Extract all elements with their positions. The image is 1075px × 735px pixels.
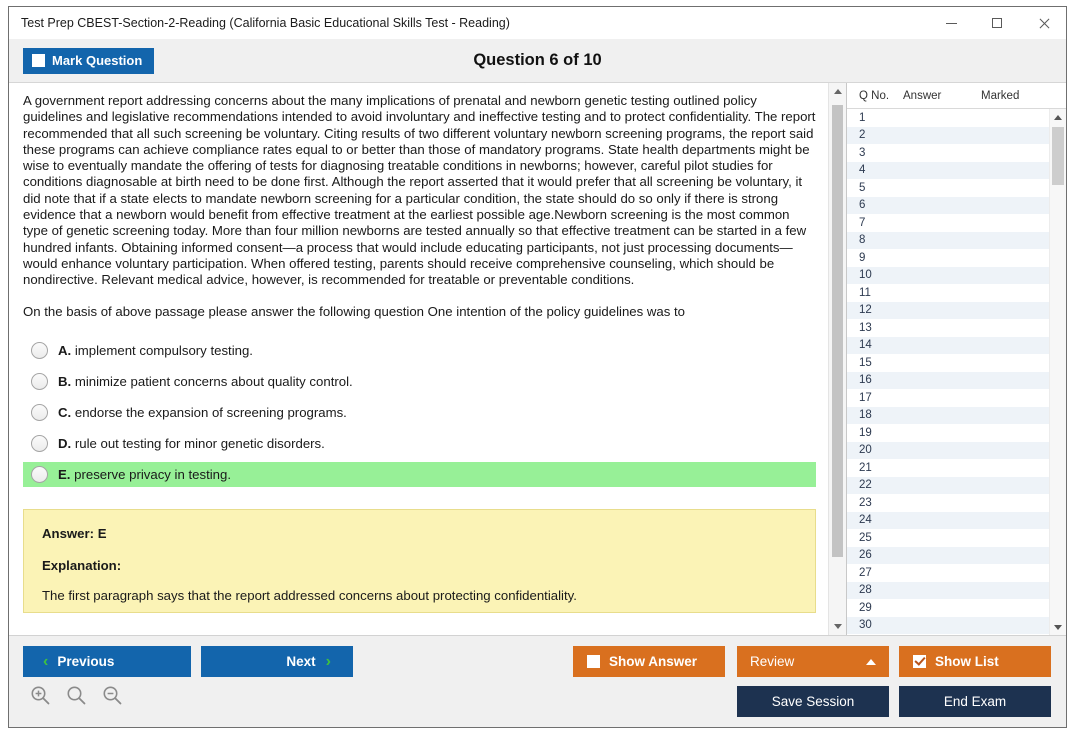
question-list-row[interactable]: 2 — [847, 127, 1049, 145]
option-letter-a: A. — [58, 343, 71, 358]
question-number-cell: 20 — [847, 444, 903, 456]
question-number-cell: 11 — [847, 287, 903, 299]
option-row-b[interactable]: B. minimize patient concerns about quali… — [23, 369, 816, 394]
option-letter-d: D. — [58, 436, 71, 451]
answer-options: A. implement compulsory testing. B. mini… — [23, 338, 816, 493]
option-text-c: C. endorse the expansion of screening pr… — [58, 405, 347, 420]
question-list-scrollbar-thumb[interactable] — [1052, 127, 1064, 185]
end-exam-label: End Exam — [944, 694, 1006, 709]
chevron-down-icon — [834, 624, 842, 629]
question-list-row[interactable]: 15 — [847, 354, 1049, 372]
question-list-row[interactable]: 17 — [847, 389, 1049, 407]
question-list-row[interactable]: 28 — [847, 582, 1049, 600]
question-number-cell: 12 — [847, 304, 903, 316]
option-text-a: A. implement compulsory testing. — [58, 343, 253, 358]
option-label-e: preserve privacy in testing. — [74, 467, 231, 482]
save-session-button[interactable]: Save Session — [737, 686, 889, 717]
radio-icon-e[interactable] — [31, 466, 48, 483]
window-titlebar: Test Prep CBEST-Section-2-Reading (Calif… — [9, 7, 1066, 39]
question-list-row[interactable]: 25 — [847, 529, 1049, 547]
question-number-cell: 25 — [847, 532, 903, 544]
question-number-cell: 19 — [847, 427, 903, 439]
page-title: Question 6 of 10 — [9, 51, 1066, 70]
exam-body: A government report addressing concerns … — [9, 83, 1066, 635]
question-list-row[interactable]: 11 — [847, 284, 1049, 302]
question-number-cell: 13 — [847, 322, 903, 334]
question-number-cell: 14 — [847, 339, 903, 351]
scroll-down-button[interactable] — [829, 618, 846, 635]
previous-button[interactable]: ‹ Previous — [23, 646, 191, 677]
exam-header: Mark Question Question 6 of 10 — [9, 39, 1066, 83]
maximize-button[interactable] — [974, 7, 1020, 39]
chevron-up-icon — [834, 89, 842, 94]
question-list-row[interactable]: 6 — [847, 197, 1049, 215]
question-list-row[interactable]: 24 — [847, 512, 1049, 530]
end-exam-button[interactable]: End Exam — [899, 686, 1051, 717]
zoom-reset-icon[interactable] — [65, 684, 87, 706]
next-button[interactable]: Next › — [201, 646, 353, 677]
question-list-rows: 1234567891011121314151617181920212223242… — [847, 109, 1049, 635]
list-scroll-down-button[interactable] — [1050, 619, 1066, 635]
mark-question-label: Mark Question — [52, 53, 142, 68]
show-answer-checkbox-icon — [587, 655, 600, 668]
review-dropdown-button[interactable]: Review — [737, 646, 889, 677]
caret-up-icon — [866, 659, 876, 665]
column-header-answer: Answer — [903, 90, 981, 102]
option-row-a[interactable]: A. implement compulsory testing. — [23, 338, 816, 363]
minimize-button[interactable] — [928, 7, 974, 39]
zoom-out-icon[interactable] — [101, 684, 123, 706]
question-number-cell: 16 — [847, 374, 903, 386]
question-scroll-area: A government report addressing concerns … — [9, 83, 828, 635]
close-icon — [1038, 18, 1049, 29]
question-list-row[interactable]: 10 — [847, 267, 1049, 285]
question-list-row[interactable]: 3 — [847, 144, 1049, 162]
zoom-toolbar — [29, 684, 123, 706]
option-text-b: B. minimize patient concerns about quali… — [58, 374, 353, 389]
question-list-row[interactable]: 26 — [847, 547, 1049, 565]
exam-window: Test Prep CBEST-Section-2-Reading (Calif… — [8, 6, 1067, 728]
question-number-cell: 18 — [847, 409, 903, 421]
question-number-cell: 30 — [847, 619, 903, 631]
question-number-cell: 21 — [847, 462, 903, 474]
content-scrollbar[interactable] — [828, 83, 846, 635]
question-list-row[interactable]: 16 — [847, 372, 1049, 390]
question-list-row[interactable]: 5 — [847, 179, 1049, 197]
option-text-d: D. rule out testing for minor genetic di… — [58, 436, 325, 451]
question-list-body: 1234567891011121314151617181920212223242… — [847, 109, 1066, 635]
chevron-down-icon — [1054, 625, 1062, 630]
radio-icon-c[interactable] — [31, 404, 48, 421]
previous-label: Previous — [57, 654, 114, 669]
question-list-row[interactable]: 19 — [847, 424, 1049, 442]
window-title: Test Prep CBEST-Section-2-Reading (Calif… — [9, 16, 928, 30]
option-label-b: minimize patient concerns about quality … — [75, 374, 353, 389]
exam-footer: ‹ Previous Next › Show Answer Review Sho… — [9, 635, 1066, 727]
review-label: Review — [750, 654, 794, 669]
option-letter-c: C. — [58, 405, 71, 420]
question-number-cell: 3 — [847, 147, 903, 159]
question-number-cell: 15 — [847, 357, 903, 369]
show-list-checkbox-icon — [913, 655, 926, 668]
window-controls — [928, 7, 1066, 39]
question-list-row[interactable]: 29 — [847, 599, 1049, 617]
question-list-row[interactable]: 22 — [847, 477, 1049, 495]
question-list-panel: Q No. Answer Marked 12345678910111213141… — [846, 83, 1066, 635]
question-number-cell: 1 — [847, 112, 903, 124]
question-number-cell: 7 — [847, 217, 903, 229]
chevron-up-icon — [1054, 115, 1062, 120]
question-list-row[interactable]: 18 — [847, 407, 1049, 425]
minimize-icon — [946, 23, 957, 24]
column-header-q-no: Q No. — [847, 90, 903, 102]
question-number-cell: 29 — [847, 602, 903, 614]
save-session-label: Save Session — [772, 694, 855, 709]
option-label-c: endorse the expansion of screening progr… — [75, 405, 347, 420]
mark-question-checkbox-icon — [32, 54, 45, 67]
column-header-marked: Marked — [981, 90, 1049, 102]
question-number-cell: 27 — [847, 567, 903, 579]
question-list-scrollbar[interactable] — [1049, 109, 1066, 635]
question-number-cell: 2 — [847, 129, 903, 141]
question-number-cell: 24 — [847, 514, 903, 526]
question-number-cell: 17 — [847, 392, 903, 404]
question-list-row[interactable]: 20 — [847, 442, 1049, 460]
option-text-e: E. preserve privacy in testing. — [58, 467, 231, 482]
chevron-right-icon: › — [326, 654, 331, 670]
question-number-cell: 23 — [847, 497, 903, 509]
question-list-row[interactable]: 8 — [847, 232, 1049, 250]
chevron-left-icon: ‹ — [43, 654, 48, 670]
option-row-e[interactable]: E. preserve privacy in testing. — [23, 462, 816, 487]
show-list-label: Show List — [935, 654, 999, 669]
option-letter-e: E. — [58, 467, 70, 482]
question-list-row[interactable]: 4 — [847, 162, 1049, 180]
question-stem: On the basis of above passage please ans… — [23, 303, 816, 320]
show-answer-button[interactable]: Show Answer — [573, 646, 725, 677]
question-number-cell: 10 — [847, 269, 903, 281]
reading-passage: A government report addressing concerns … — [23, 93, 816, 289]
question-number-cell: 5 — [847, 182, 903, 194]
question-number-cell: 26 — [847, 549, 903, 561]
option-label-d: rule out testing for minor genetic disor… — [75, 436, 325, 451]
question-pane: A government report addressing concerns … — [9, 83, 846, 635]
explanation-text: The first paragraph says that the report… — [42, 587, 797, 604]
close-button[interactable] — [1020, 7, 1066, 39]
explanation-label: Explanation: — [42, 558, 797, 573]
question-list-row[interactable]: 27 — [847, 564, 1049, 582]
question-number-cell: 22 — [847, 479, 903, 491]
question-list-row[interactable]: 12 — [847, 302, 1049, 320]
mark-question-button[interactable]: Mark Question — [23, 48, 154, 74]
question-list-row[interactable]: 23 — [847, 494, 1049, 512]
answer-explanation-box: Answer: E Explanation: The first paragra… — [23, 509, 816, 613]
question-list-header: Q No. Answer Marked — [847, 83, 1066, 109]
question-list-row[interactable]: 21 — [847, 459, 1049, 477]
content-scrollbar-thumb[interactable] — [832, 105, 843, 557]
option-letter-b: B. — [58, 374, 71, 389]
show-list-button[interactable]: Show List — [899, 646, 1051, 677]
option-row-c[interactable]: C. endorse the expansion of screening pr… — [23, 400, 816, 425]
question-number-cell: 8 — [847, 234, 903, 246]
answer-line: Answer: E — [42, 526, 797, 541]
question-number-cell: 9 — [847, 252, 903, 264]
option-row-d[interactable]: D. rule out testing for minor genetic di… — [23, 431, 816, 456]
question-list-row[interactable]: 9 — [847, 249, 1049, 267]
radio-icon-d[interactable] — [31, 435, 48, 452]
radio-icon-b[interactable] — [31, 373, 48, 390]
question-list-row[interactable]: 1 — [847, 109, 1049, 127]
scroll-up-button[interactable] — [829, 83, 846, 100]
question-number-cell: 6 — [847, 199, 903, 211]
show-answer-label: Show Answer — [609, 654, 697, 669]
zoom-in-icon[interactable] — [29, 684, 51, 706]
question-number-cell: 28 — [847, 584, 903, 596]
question-list-row[interactable]: 13 — [847, 319, 1049, 337]
maximize-icon — [992, 18, 1002, 28]
question-list-row[interactable]: 30 — [847, 617, 1049, 635]
next-label: Next — [286, 654, 315, 669]
radio-icon-a[interactable] — [31, 342, 48, 359]
question-list-row[interactable]: 14 — [847, 337, 1049, 355]
option-label-a: implement compulsory testing. — [75, 343, 253, 358]
question-list-row[interactable]: 7 — [847, 214, 1049, 232]
list-scroll-up-button[interactable] — [1050, 109, 1066, 125]
question-number-cell: 4 — [847, 164, 903, 176]
